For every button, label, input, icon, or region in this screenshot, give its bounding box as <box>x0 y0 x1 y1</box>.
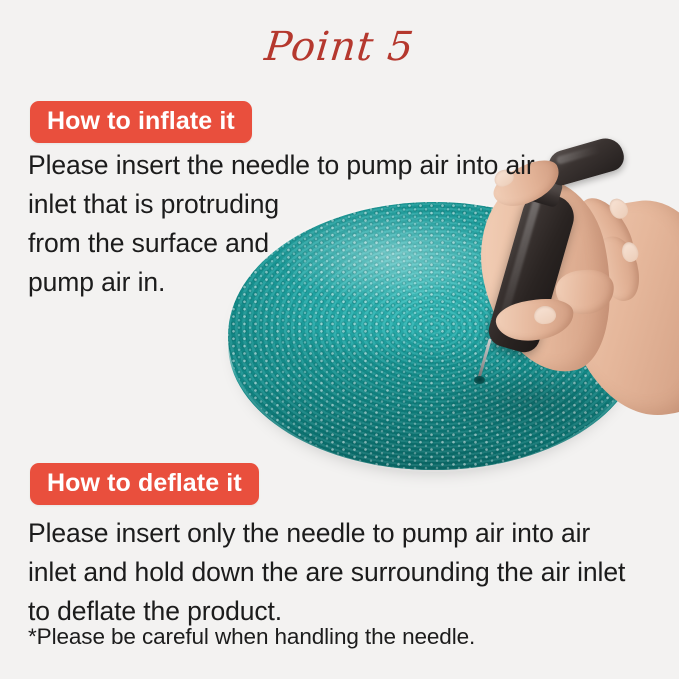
page-title: Point 5 <box>0 24 679 70</box>
finger-grip-lower <box>494 295 577 345</box>
fingernail-middle <box>620 240 641 264</box>
badge-how-to-deflate: How to deflate it <box>30 463 259 505</box>
pump-needle <box>477 338 491 379</box>
air-inlet-hole <box>474 376 485 384</box>
finger-index <box>567 190 644 273</box>
badge-how-to-inflate: How to inflate it <box>30 101 252 143</box>
deflate-instructions: Please insert only the needle to pump ai… <box>28 514 634 631</box>
fingernail-index <box>606 195 632 222</box>
inflate-instructions: Please insert the needle to pump air int… <box>28 146 576 302</box>
needle-safety-note: *Please be careful when handling the nee… <box>28 622 475 652</box>
infographic-page: Point 5 <box>0 0 679 679</box>
fingernail-grip-lower <box>533 305 557 325</box>
finger-middle <box>586 231 648 307</box>
